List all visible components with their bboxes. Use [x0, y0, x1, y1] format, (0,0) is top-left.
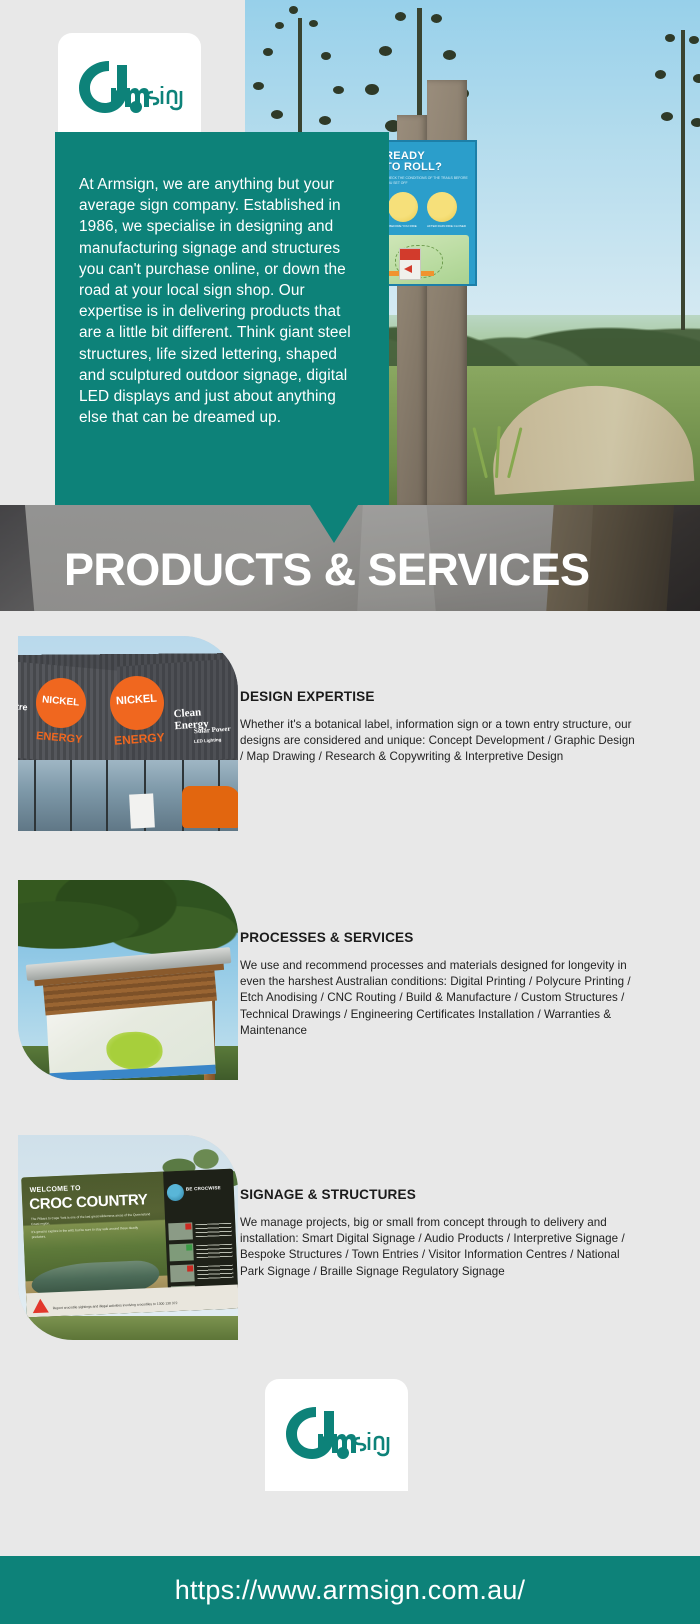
croc-report-note: Report crocodile sightings and illegal a… — [53, 1300, 203, 1311]
section-2-text: PROCESSES & SERVICES We use and recommen… — [240, 930, 640, 1039]
a-frame-sign — [129, 793, 155, 828]
intro-arrow-pointer — [310, 505, 358, 543]
warning-triangle-icon — [32, 1298, 49, 1313]
section-3-body: We manage projects, big or small from co… — [240, 1215, 640, 1280]
armsign-a-logo — [280, 1401, 394, 1469]
logo-card-bottom — [265, 1379, 408, 1491]
armsign-logo-footer — [280, 1401, 394, 1469]
partial-text: tre — [18, 702, 28, 713]
section-1-body: Whether it's a botanical label, informat… — [240, 717, 640, 766]
website-url-link[interactable]: https://www.armsign.com.au/ — [175, 1575, 526, 1606]
trail-sign-circle-2-caption: AFTER RAIN RIDE CLOSED — [427, 224, 466, 228]
thumbnail-croc-country: WELCOME TO CROC COUNTRY The Pilbara to C… — [18, 1135, 238, 1340]
banner-title: PRODUCTS & SERVICES — [64, 544, 589, 596]
section-3-title: SIGNAGE & STRUCTURES — [240, 1187, 640, 1202]
footer-bar: https://www.armsign.com.au/ — [0, 1556, 700, 1624]
armsign-a-logo — [73, 55, 187, 123]
section-3-text: SIGNAGE & STRUCTURES We manage projects,… — [240, 1187, 640, 1280]
section-2-body: We use and recommend processes and mater… — [240, 958, 640, 1039]
section-2-title: PROCESSES & SERVICES — [240, 930, 640, 945]
intro-text: At Armsign, we are anything but your ave… — [55, 132, 389, 428]
armsign-logo — [73, 55, 187, 123]
thumbnail-nickel-energy: NICKEL ENERGY NICKEL ENERGY Clean Energy… — [18, 636, 238, 831]
trail-sign-map — [385, 235, 469, 286]
croc-country-sign: WELCOME TO CROC COUNTRY The Pilbara to C… — [21, 1169, 238, 1318]
trail-sign-subtitle: CHECK THE CONDITIONS OF THE TRAILS BEFOR… — [378, 173, 475, 186]
trail-sign-circle-2: AFTER RAIN RIDE CLOSED — [427, 192, 466, 228]
trail-sign-circle-1-caption: BEFORE YOU RIDE — [388, 224, 418, 228]
orange-car — [182, 786, 238, 828]
logo-card-top — [58, 33, 201, 145]
trail-sign-circles: BEFORE YOU RIDE AFTER RAIN RIDE CLOSED — [378, 186, 475, 228]
section-1-title: DESIGN EXPERTISE — [240, 689, 640, 704]
section-1-text: DESIGN EXPERTISE Whether it's a botanica… — [240, 689, 640, 766]
intro-panel: At Armsign, we are anything but your ave… — [55, 132, 389, 505]
trail-sign-title-line2: TO ROLL? — [385, 161, 442, 173]
globe-icon — [167, 1184, 185, 1202]
trail-sign-panel: READY TO ROLL? CHECK THE CONDITIONS OF T… — [376, 140, 477, 286]
thumbnail-timber-shelter — [18, 880, 238, 1080]
small-directional-sign — [399, 248, 421, 280]
sign-legs — [40, 1314, 210, 1340]
trail-sign-circle-1: BEFORE YOU RIDE — [388, 192, 418, 228]
infographic-page: READY TO ROLL? CHECK THE CONDITIONS OF T… — [0, 0, 700, 1624]
trail-sign-title: READY TO ROLL? — [378, 142, 475, 173]
